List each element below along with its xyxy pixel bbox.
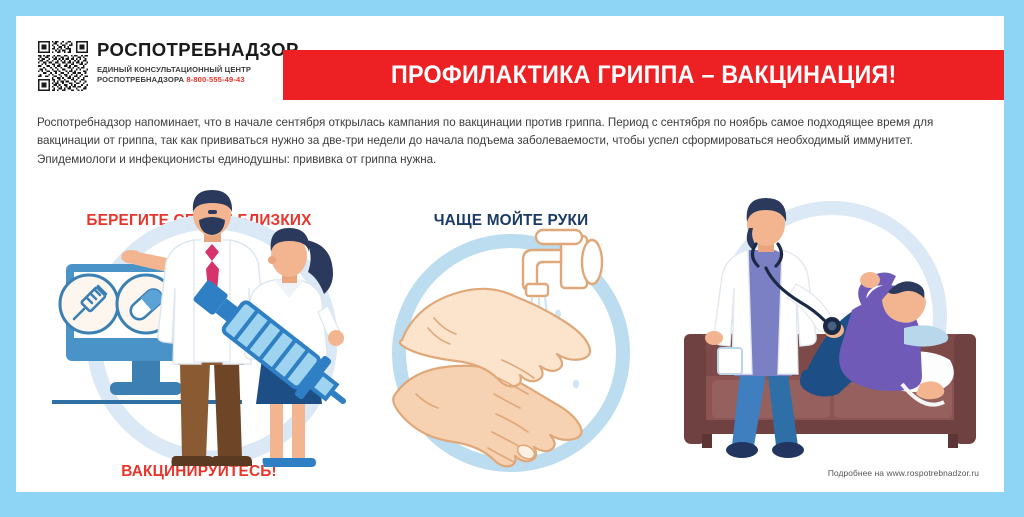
lead-paragraph: Роспотребнадзор напоминает, что в начале… [37, 114, 983, 169]
illustration-hand-washing [376, 188, 646, 492]
illustration-doctor-patient-sofa [656, 188, 1004, 492]
illustration-panels: БЕРЕГИТЕ СЕБЯ И БЛИЗКИХ ВАКЦИНИРУЙТЕСЬ! [16, 188, 1004, 492]
footer-note: Подробнее на www.rospotrebnadzor.ru [828, 468, 979, 478]
logo-subtitle-line1: ЕДИНЫЙ КОНСУЛЬТАЦИОННЫЙ ЦЕНТР [97, 65, 251, 74]
panel-vaccination: БЕРЕГИТЕ СЕБЯ И БЛИЗКИХ ВАКЦИНИРУЙТЕСЬ! [34, 188, 364, 492]
panel-no-self-treatment: НЕ ЗАНИМАЙТЕСЬ САМОЛЕЧЕНИЕМ! [656, 188, 1004, 492]
panel-hand-washing: ЧАЩЕ МОЙТЕ РУКИ [376, 188, 646, 492]
logo-subtitle: ЕДИНЫЙ КОНСУЛЬТАЦИОННЫЙ ЦЕНТР РОСПОТРЕБН… [97, 65, 299, 86]
illustration-doctor-nurse-syringe [34, 188, 364, 492]
headline-title: ПРОФИЛАКТИКА ГРИППА – ВАКЦИНАЦИЯ! [391, 61, 896, 90]
poster-header: РОСПОТРЕБНАДЗОР ЕДИНЫЙ КОНСУЛЬТАЦИОННЫЙ … [16, 16, 1004, 102]
rospotrebnadzor-logo: РОСПОТРЕБНАДЗОР ЕДИНЫЙ КОНСУЛЬТАЦИОННЫЙ … [38, 40, 299, 92]
logo-text-block: РОСПОТРЕБНАДЗОР ЕДИНЫЙ КОНСУЛЬТАЦИОННЫЙ … [97, 40, 299, 85]
headline-banner: ПРОФИЛАКТИКА ГРИППА – ВАКЦИНАЦИЯ! [283, 50, 1004, 100]
logo-title: РОСПОТРЕБНАДЗОР [97, 41, 299, 60]
logo-subtitle-line2: РОСПОТРЕБНАДЗОРА [97, 75, 184, 84]
hotline-phone: 8-800-555-49-43 [186, 75, 244, 84]
poster-canvas: РОСПОТРЕБНАДЗОР ЕДИНЫЙ КОНСУЛЬТАЦИОННЫЙ … [16, 16, 1004, 492]
qr-code-icon [38, 40, 88, 92]
